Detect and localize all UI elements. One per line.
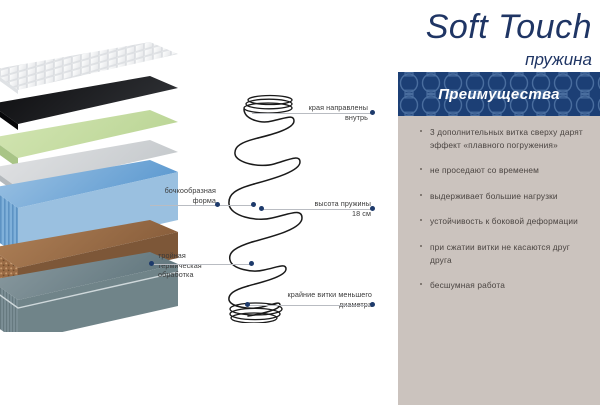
- callout-spring-height-line: [262, 209, 372, 210]
- callout-thermal-treatment-line: [152, 264, 252, 265]
- callout-spring-height-dot-right: [370, 206, 375, 211]
- callout-edges-inward-line: [252, 113, 372, 114]
- list-item-label: выдерживает большие нагрузки: [430, 191, 558, 201]
- callout-barrel-shape-label: бочкообразная форма: [165, 186, 216, 205]
- callout-thermal-treatment-label: тройная термическая обработка: [158, 251, 202, 279]
- callout-spring-height-dot-left: [259, 206, 264, 211]
- list-item-label: 3 дополнительных витка сверху дарят эффе…: [430, 127, 583, 150]
- bullet-icon: [420, 130, 422, 132]
- bullet-icon: [420, 283, 422, 285]
- advantages-banner-label: Преимущества: [398, 72, 600, 116]
- list-item: выдерживает большие нагрузки: [398, 190, 600, 203]
- callout-small-diameter-dot-left: [245, 302, 250, 307]
- page-title: Soft Touch: [392, 8, 592, 47]
- list-item: бесшумная работа: [398, 279, 600, 292]
- callout-barrel-shape-line: [150, 205, 254, 206]
- list-item: при сжатии витки не касаются друг друга: [398, 241, 600, 266]
- list-item-label: при сжатии витки не касаются друг друга: [430, 242, 570, 265]
- bullet-icon: [420, 194, 422, 196]
- bullet-icon: [420, 168, 422, 170]
- advantages-banner: Преимущества: [398, 72, 600, 116]
- callout-thermal-treatment-dot-right: [249, 261, 254, 266]
- callout-small-diameter-dot-right: [370, 302, 375, 307]
- list-item-label: не проседают со временем: [430, 165, 539, 175]
- list-item-label: устойчивость к боковой деформации: [430, 216, 578, 226]
- callout-barrel-shape-dot: [215, 202, 220, 207]
- list-item: устойчивость к боковой деформации: [398, 215, 600, 228]
- callout-edges-inward-dot: [370, 110, 375, 115]
- callout-small-diameter-line: [248, 305, 372, 306]
- advantages-list: 3 дополнительных витка сверху дарят эффе…: [398, 126, 600, 305]
- callout-thermal-treatment-dot-left: [149, 261, 154, 266]
- callout-barrel-shape: бочкообразная форма: [150, 186, 216, 205]
- list-item: не проседают со временем: [398, 164, 600, 177]
- callout-thermal-treatment: тройная термическая обработка: [158, 251, 220, 280]
- bullet-icon: [420, 245, 422, 247]
- poster-canvas: Soft Touch пружина: [0, 0, 600, 405]
- callout-barrel-shape-dot-end: [251, 202, 256, 207]
- list-item: 3 дополнительных витка сверху дарят эффе…: [398, 126, 600, 151]
- list-item-label: бесшумная работа: [430, 280, 505, 290]
- advantages-panel: Преимущества 3 дополнительных витка свер…: [398, 72, 600, 405]
- callout-small-diameter: крайние витки меньшего диаметра: [280, 290, 372, 309]
- bullet-icon: [420, 219, 422, 221]
- page-subtitle: пружина: [392, 50, 592, 70]
